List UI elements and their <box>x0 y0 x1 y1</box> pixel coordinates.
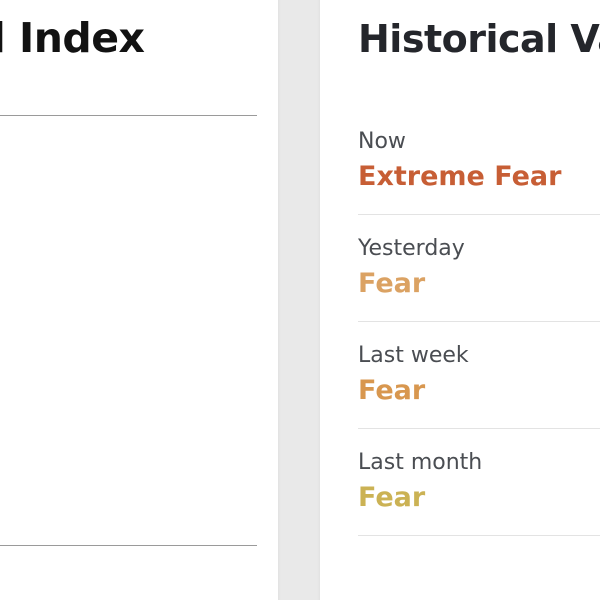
history-sentiment-value: Fear <box>358 265 600 302</box>
history-period-label: Now <box>358 126 600 158</box>
history-sentiment-value: Extreme Fear <box>358 158 600 195</box>
list-item: Last month Fear <box>358 447 600 536</box>
gauge-chart <box>0 116 278 546</box>
history-sentiment-value: Fear <box>358 372 600 409</box>
historical-values-list: Now Extreme Fear Yesterday Fear Last wee… <box>358 126 600 554</box>
footer-divider <box>0 545 257 546</box>
dashboard-root: Fear & Greed Index Market Sentiment Anal… <box>0 0 600 600</box>
historical-values-title: Historical Values <box>358 16 600 62</box>
list-item: Now Extreme Fear <box>358 126 600 215</box>
history-sentiment-value: Fear <box>358 479 600 516</box>
history-period-label: Last month <box>358 447 600 479</box>
list-item: Last week Fear <box>358 340 600 429</box>
history-period-label: Last week <box>358 340 600 372</box>
historical-values-card: Historical Values Now Extreme Fear Yeste… <box>320 0 600 600</box>
list-item: Yesterday Fear <box>358 233 600 322</box>
gauge-arc-svg <box>0 116 278 546</box>
page-title: Fear & Greed Index <box>0 14 145 62</box>
history-period-label: Yesterday <box>358 233 600 265</box>
fear-greed-gauge-card: Fear & Greed Index Market Sentiment Anal… <box>0 0 278 600</box>
